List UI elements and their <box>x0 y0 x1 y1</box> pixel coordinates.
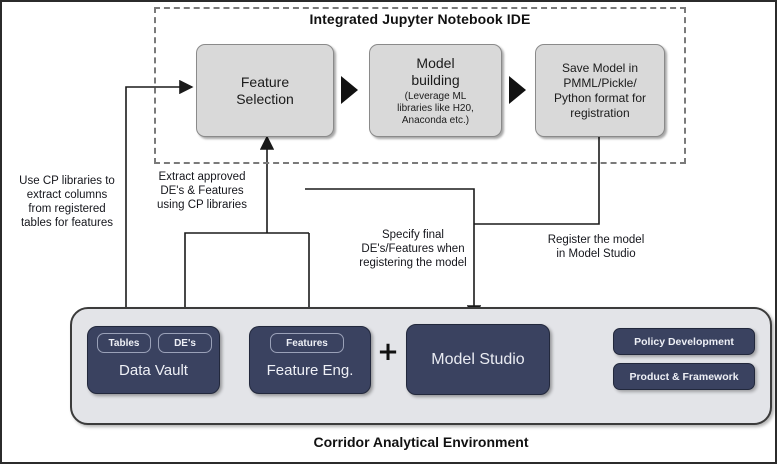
save-model-label: Save Model in PMML/Pickle/ Python format… <box>554 61 646 121</box>
arrow-triangle-feature-to-model <box>341 76 358 104</box>
ide-title: Integrated Jupyter Notebook IDE <box>154 11 686 27</box>
model-studio-node[interactable]: Model Studio <box>406 324 550 395</box>
policy-development-node[interactable]: Policy Development <box>613 328 755 355</box>
model-building-label: Model building <box>411 55 459 89</box>
data-vault-label: Data Vault <box>119 362 188 379</box>
policy-development-label: Policy Development <box>634 336 734 348</box>
product-framework-node[interactable]: Product & Framework <box>613 363 755 390</box>
arrow-triangle-model-to-save <box>509 76 526 104</box>
chip-des-label: DE's <box>174 338 196 349</box>
extract-approved-note: Extract approved DE's & Features using C… <box>141 170 263 212</box>
feature-selection-label: Feature Selection <box>236 74 294 108</box>
use-cp-libraries-note: Use CP libraries to extract columns from… <box>8 174 126 230</box>
diagram-canvas: Integrated Jupyter Notebook IDE Feature … <box>0 0 777 464</box>
chip-des[interactable]: DE's <box>158 333 212 353</box>
corridor-title: Corridor Analytical Environment <box>70 434 772 450</box>
chip-tables-label: Tables <box>109 338 140 349</box>
chip-features-label: Features <box>286 338 328 349</box>
specify-final-note: Specify final DE's/Features when registe… <box>349 228 477 270</box>
chip-features[interactable]: Features <box>270 333 344 353</box>
save-model-node[interactable]: Save Model in PMML/Pickle/ Python format… <box>535 44 665 137</box>
model-building-node[interactable]: Model building (Leverage ML libraries li… <box>369 44 502 137</box>
chip-tables[interactable]: Tables <box>97 333 151 353</box>
model-studio-label: Model Studio <box>431 351 524 369</box>
product-framework-label: Product & Framework <box>629 371 738 383</box>
plus-icon: + <box>377 340 399 366</box>
register-model-note: Register the model in Model Studio <box>529 233 663 261</box>
feature-selection-node[interactable]: Feature Selection <box>196 44 334 137</box>
model-building-sublabel: (Leverage ML libraries like H20, Anacond… <box>397 91 474 127</box>
feature-eng-label: Feature Eng. <box>267 362 354 379</box>
